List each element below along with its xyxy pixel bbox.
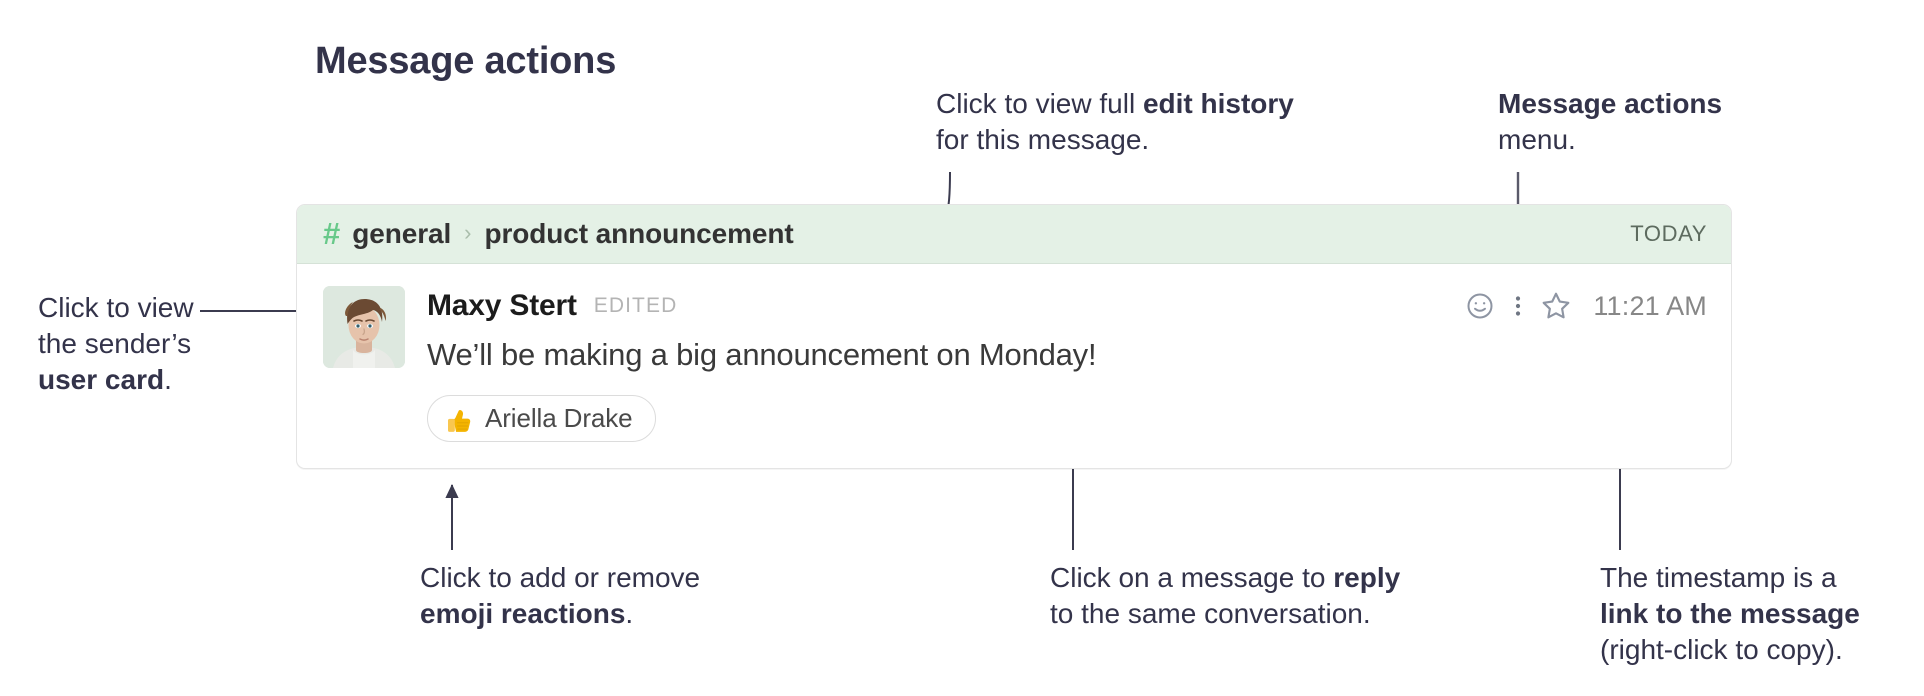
annotation-actions-menu-line1-bold: Message actions [1498,88,1722,119]
message-row[interactable]: Maxy Stert EDITED [297,264,1731,468]
annotation-user-card-line3-post: . [164,364,172,395]
page-title: Message actions [315,40,616,83]
message-body-text[interactable]: We’ll be making a big announcement on Mo… [427,335,1707,375]
annotation-user-card-line2: the sender’s [38,326,194,362]
annotation-user-card-line1: Click to view [38,290,194,326]
message-header: Maxy Stert EDITED [427,286,1707,326]
message-actions-menu-icon[interactable] [1503,286,1533,326]
annotation-edit-history: Click to view full edit history for this… [936,86,1294,158]
stream-date-label[interactable]: TODAY [1630,221,1707,247]
annotated-screenshot: Message actions [0,0,1924,696]
reactions-list: Ariella Drake [427,395,1707,442]
avatar[interactable] [323,286,405,368]
annotation-reply-line1-bold: reply [1333,562,1400,593]
annotation-edit-history-line1-pre: Click to view full [936,88,1143,119]
annotation-emoji-line2-post: . [625,598,633,629]
annotation-reply-line1-pre: Click on a message to [1050,562,1333,593]
thumbs-up-emoji [444,404,474,434]
annotation-edit-history-line2: for this message. [936,122,1294,158]
annotation-actions-menu-line2: menu. [1498,122,1722,158]
edited-label[interactable]: EDITED [594,294,678,318]
message-main: Maxy Stert EDITED [427,286,1707,442]
message-timestamp-link[interactable]: 11:21 AM [1593,291,1707,322]
reaction-label: Ariella Drake [485,403,633,434]
annotation-timestamp-line2-bold: link to the message [1600,598,1860,629]
annotation-emoji-line1: Click to add or remove [420,560,700,596]
annotation-emoji-line2-bold: emoji reactions [420,598,625,629]
annotation-reply-line2: to the same conversation. [1050,596,1400,632]
stream-name-link[interactable]: general [352,218,451,250]
annotation-emoji-reactions: Click to add or remove emoji reactions. [420,560,700,632]
annotation-reply: Click on a message to reply to the same … [1050,560,1400,632]
chevron-right-icon: › [464,220,471,246]
sender-name[interactable]: Maxy Stert [427,289,577,323]
annotation-actions-menu: Message actions menu. [1498,86,1722,158]
annotation-timestamp-line3: (right-click to copy). [1600,632,1860,668]
star-icon[interactable] [1533,286,1579,326]
message-card: # general › product announcement TODAY [296,204,1732,469]
annotation-user-card: Click to view the sender’s user card. [38,290,194,397]
topic-name-link[interactable]: product announcement [484,218,793,250]
message-controls: 11:21 AM [1457,286,1707,326]
reaction-pill[interactable]: Ariella Drake [427,395,656,442]
annotation-timestamp-link: The timestamp is a link to the message (… [1600,560,1860,667]
emoji-reaction-icon[interactable] [1457,286,1503,326]
hash-icon: # [323,218,340,249]
annotation-timestamp-line1: The timestamp is a [1600,560,1860,596]
annotation-edit-history-line1-bold: edit history [1143,88,1294,119]
annotation-user-card-line3-bold: user card [38,364,164,395]
stream-topic-bar[interactable]: # general › product announcement TODAY [297,205,1731,264]
